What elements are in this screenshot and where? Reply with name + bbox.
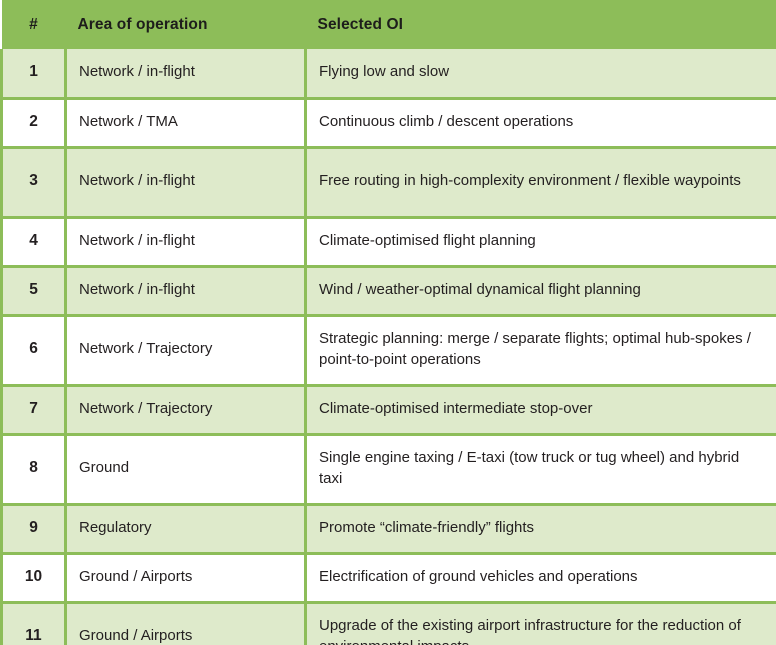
operational-improvements-table: # Area of operation Selected OI 1Network… (0, 0, 776, 645)
cell-selected-oi: Strategic planning: merge / separate fli… (306, 315, 776, 385)
cell-selected-oi: Continuous climb / descent operations (306, 98, 776, 147)
cell-row-number: 5 (2, 266, 66, 315)
table-row: 11Ground / AirportsUpgrade of the existi… (2, 602, 776, 645)
table-row: 2Network / TMAContinuous climb / descent… (2, 98, 776, 147)
table-row: 5Network / in-flightWind / weather-optim… (2, 266, 776, 315)
cell-area-of-operation: Network / in-flight (66, 217, 306, 266)
column-header-number: # (2, 0, 66, 49)
table-header-row: # Area of operation Selected OI (2, 0, 776, 49)
cell-selected-oi: Promote “climate-friendly” flights (306, 504, 776, 553)
cell-row-number: 10 (2, 553, 66, 602)
cell-area-of-operation: Ground / Airports (66, 553, 306, 602)
table-body: 1Network / in-flightFlying low and slow2… (2, 49, 776, 645)
cell-area-of-operation: Network / Trajectory (66, 385, 306, 434)
table-row: 6Network / TrajectoryStrategic planning:… (2, 315, 776, 385)
table-row: 8GroundSingle engine taxing / E-taxi (to… (2, 434, 776, 504)
cell-row-number: 4 (2, 217, 66, 266)
cell-selected-oi: Electrification of ground vehicles and o… (306, 553, 776, 602)
table-row: 9RegulatoryPromote “climate-friendly” fl… (2, 504, 776, 553)
cell-selected-oi: Climate-optimised flight planning (306, 217, 776, 266)
table-row: 10Ground / AirportsElectrification of gr… (2, 553, 776, 602)
cell-area-of-operation: Ground (66, 434, 306, 504)
table-row: 3Network / in-flightFree routing in high… (2, 147, 776, 217)
table-row: 4Network / in-flightClimate-optimised fl… (2, 217, 776, 266)
cell-selected-oi: Climate-optimised intermediate stop-over (306, 385, 776, 434)
cell-area-of-operation: Network / TMA (66, 98, 306, 147)
cell-area-of-operation: Network / Trajectory (66, 315, 306, 385)
cell-selected-oi: Flying low and slow (306, 49, 776, 98)
table-header: # Area of operation Selected OI (2, 0, 776, 49)
cell-row-number: 1 (2, 49, 66, 98)
cell-selected-oi: Upgrade of the existing airport infrastr… (306, 602, 776, 645)
cell-row-number: 9 (2, 504, 66, 553)
cell-area-of-operation: Network / in-flight (66, 147, 306, 217)
cell-row-number: 8 (2, 434, 66, 504)
table-row: 1Network / in-flightFlying low and slow (2, 49, 776, 98)
cell-row-number: 7 (2, 385, 66, 434)
cell-area-of-operation: Network / in-flight (66, 49, 306, 98)
cell-area-of-operation: Ground / Airports (66, 602, 306, 645)
column-header-area-of-operation: Area of operation (66, 0, 306, 49)
cell-selected-oi: Wind / weather-optimal dynamical flight … (306, 266, 776, 315)
cell-row-number: 11 (2, 602, 66, 645)
cell-selected-oi: Free routing in high-complexity environm… (306, 147, 776, 217)
cell-selected-oi: Single engine taxing / E-taxi (tow truck… (306, 434, 776, 504)
cell-area-of-operation: Network / in-flight (66, 266, 306, 315)
cell-row-number: 2 (2, 98, 66, 147)
cell-row-number: 6 (2, 315, 66, 385)
cell-row-number: 3 (2, 147, 66, 217)
operational-improvements-table-container: # Area of operation Selected OI 1Network… (0, 0, 776, 645)
table-row: 7Network / TrajectoryClimate-optimised i… (2, 385, 776, 434)
cell-area-of-operation: Regulatory (66, 504, 306, 553)
column-header-selected-oi: Selected OI (306, 0, 776, 49)
